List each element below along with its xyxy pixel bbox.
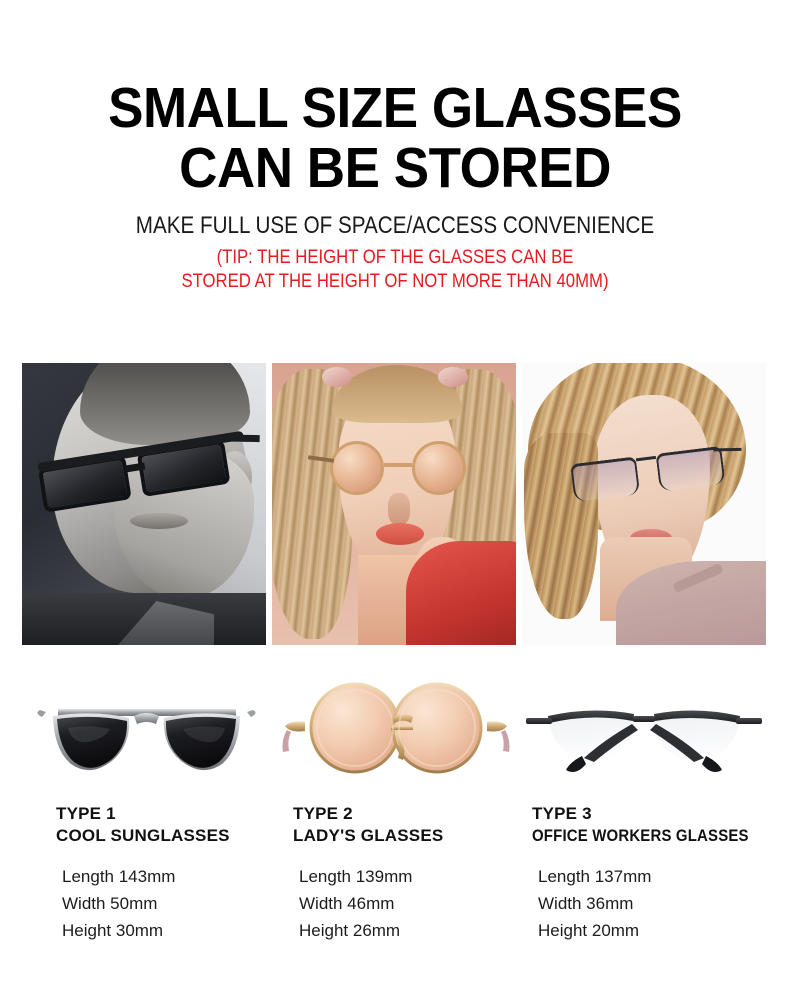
spec-length: Length 143mm — [62, 863, 271, 890]
spec-width: Width 36mm — [538, 890, 778, 917]
page-subtitle: MAKE FULL USE OF SPACE/ACCESS CONVENIENC… — [55, 212, 734, 240]
aviator-sunglasses-icon — [22, 676, 271, 785]
product-spec-list: Length 143mm Width 50mm Height 30mm — [22, 863, 271, 944]
nose-shape — [388, 493, 410, 525]
product-type-label: TYPE 2 — [293, 803, 520, 825]
tip-note: (TIP: THE HEIGHT OF THE GLASSES CAN BE S… — [47, 246, 742, 294]
lens-right — [655, 446, 725, 492]
page-title-line-1: SMALL SIZE GLASSES — [28, 78, 763, 138]
spec-height: Height 26mm — [299, 917, 520, 944]
lips-shape — [130, 513, 188, 529]
product-spec-list: Length 139mm Width 46mm Height 26mm — [271, 863, 520, 944]
heading-block: SMALL SIZE GLASSES CAN BE STORED MAKE FU… — [0, 0, 790, 294]
half-rim-eyeglasses-icon — [520, 676, 768, 785]
spec-width: Width 46mm — [299, 890, 520, 917]
photo-woman-wearing-office-eyeglasses — [522, 363, 766, 645]
product-spec-column-type-1: TYPE 1 COOL SUNGLASSES Length 143mm Widt… — [22, 803, 271, 944]
product-infographic-page: SMALL SIZE GLASSES CAN BE STORED MAKE FU… — [0, 0, 790, 986]
spec-width: Width 50mm — [62, 890, 271, 917]
tip-note-line-1: (TIP: THE HEIGHT OF THE GLASSES CAN BE — [47, 246, 742, 270]
product-spec-column-type-2: TYPE 2 LADY'S GLASSES Length 139mm Width… — [271, 803, 520, 944]
lifestyle-photo-row — [22, 363, 768, 645]
product-image-row — [22, 676, 768, 780]
temple-arm — [713, 448, 741, 451]
lens-left — [330, 441, 384, 495]
product-name-label: OFFICE WORKERS GLASSES — [532, 825, 749, 847]
hair-tie-left — [322, 367, 352, 387]
spec-length: Length 137mm — [538, 863, 778, 890]
lips-shape — [376, 523, 424, 545]
temple-arm — [226, 435, 260, 443]
product-image-cell-type-1 — [22, 676, 271, 780]
photo-man-wearing-black-sunglasses-monochrome — [22, 363, 266, 645]
product-spec-list: Length 137mm Width 36mm Height 20mm — [520, 863, 778, 944]
spec-length: Length 139mm — [299, 863, 520, 890]
product-spec-row: TYPE 1 COOL SUNGLASSES Length 143mm Widt… — [22, 803, 768, 944]
product-spec-column-type-3: TYPE 3 OFFICE WORKERS GLASSES Length 137… — [520, 803, 778, 944]
product-name-label: LADY'S GLASSES — [293, 825, 520, 847]
lens-right — [412, 441, 466, 495]
product-image-cell-type-2 — [271, 676, 520, 780]
photo-woman-wearing-round-rose-gold-sunglasses — [272, 363, 516, 645]
worn-round-sunglasses-icon — [330, 441, 466, 495]
hair-side-strand — [524, 433, 598, 619]
product-name-label: COOL SUNGLASSES — [56, 825, 271, 847]
product-type-label: TYPE 3 — [532, 803, 778, 825]
hair-tie-right — [438, 367, 468, 387]
tip-note-line-2: STORED AT THE HEIGHT OF NOT MORE THAN 40… — [47, 270, 742, 294]
product-image-cell-type-3 — [520, 676, 769, 780]
page-title-line-2: CAN BE STORED — [28, 138, 763, 198]
round-sunglasses-icon — [271, 676, 520, 785]
bridge — [636, 456, 656, 461]
spec-height: Height 20mm — [538, 917, 778, 944]
bridge — [384, 463, 412, 467]
lens-left — [570, 456, 640, 502]
red-garment — [406, 541, 516, 645]
spec-height: Height 30mm — [62, 917, 271, 944]
product-type-label: TYPE 1 — [56, 803, 271, 825]
